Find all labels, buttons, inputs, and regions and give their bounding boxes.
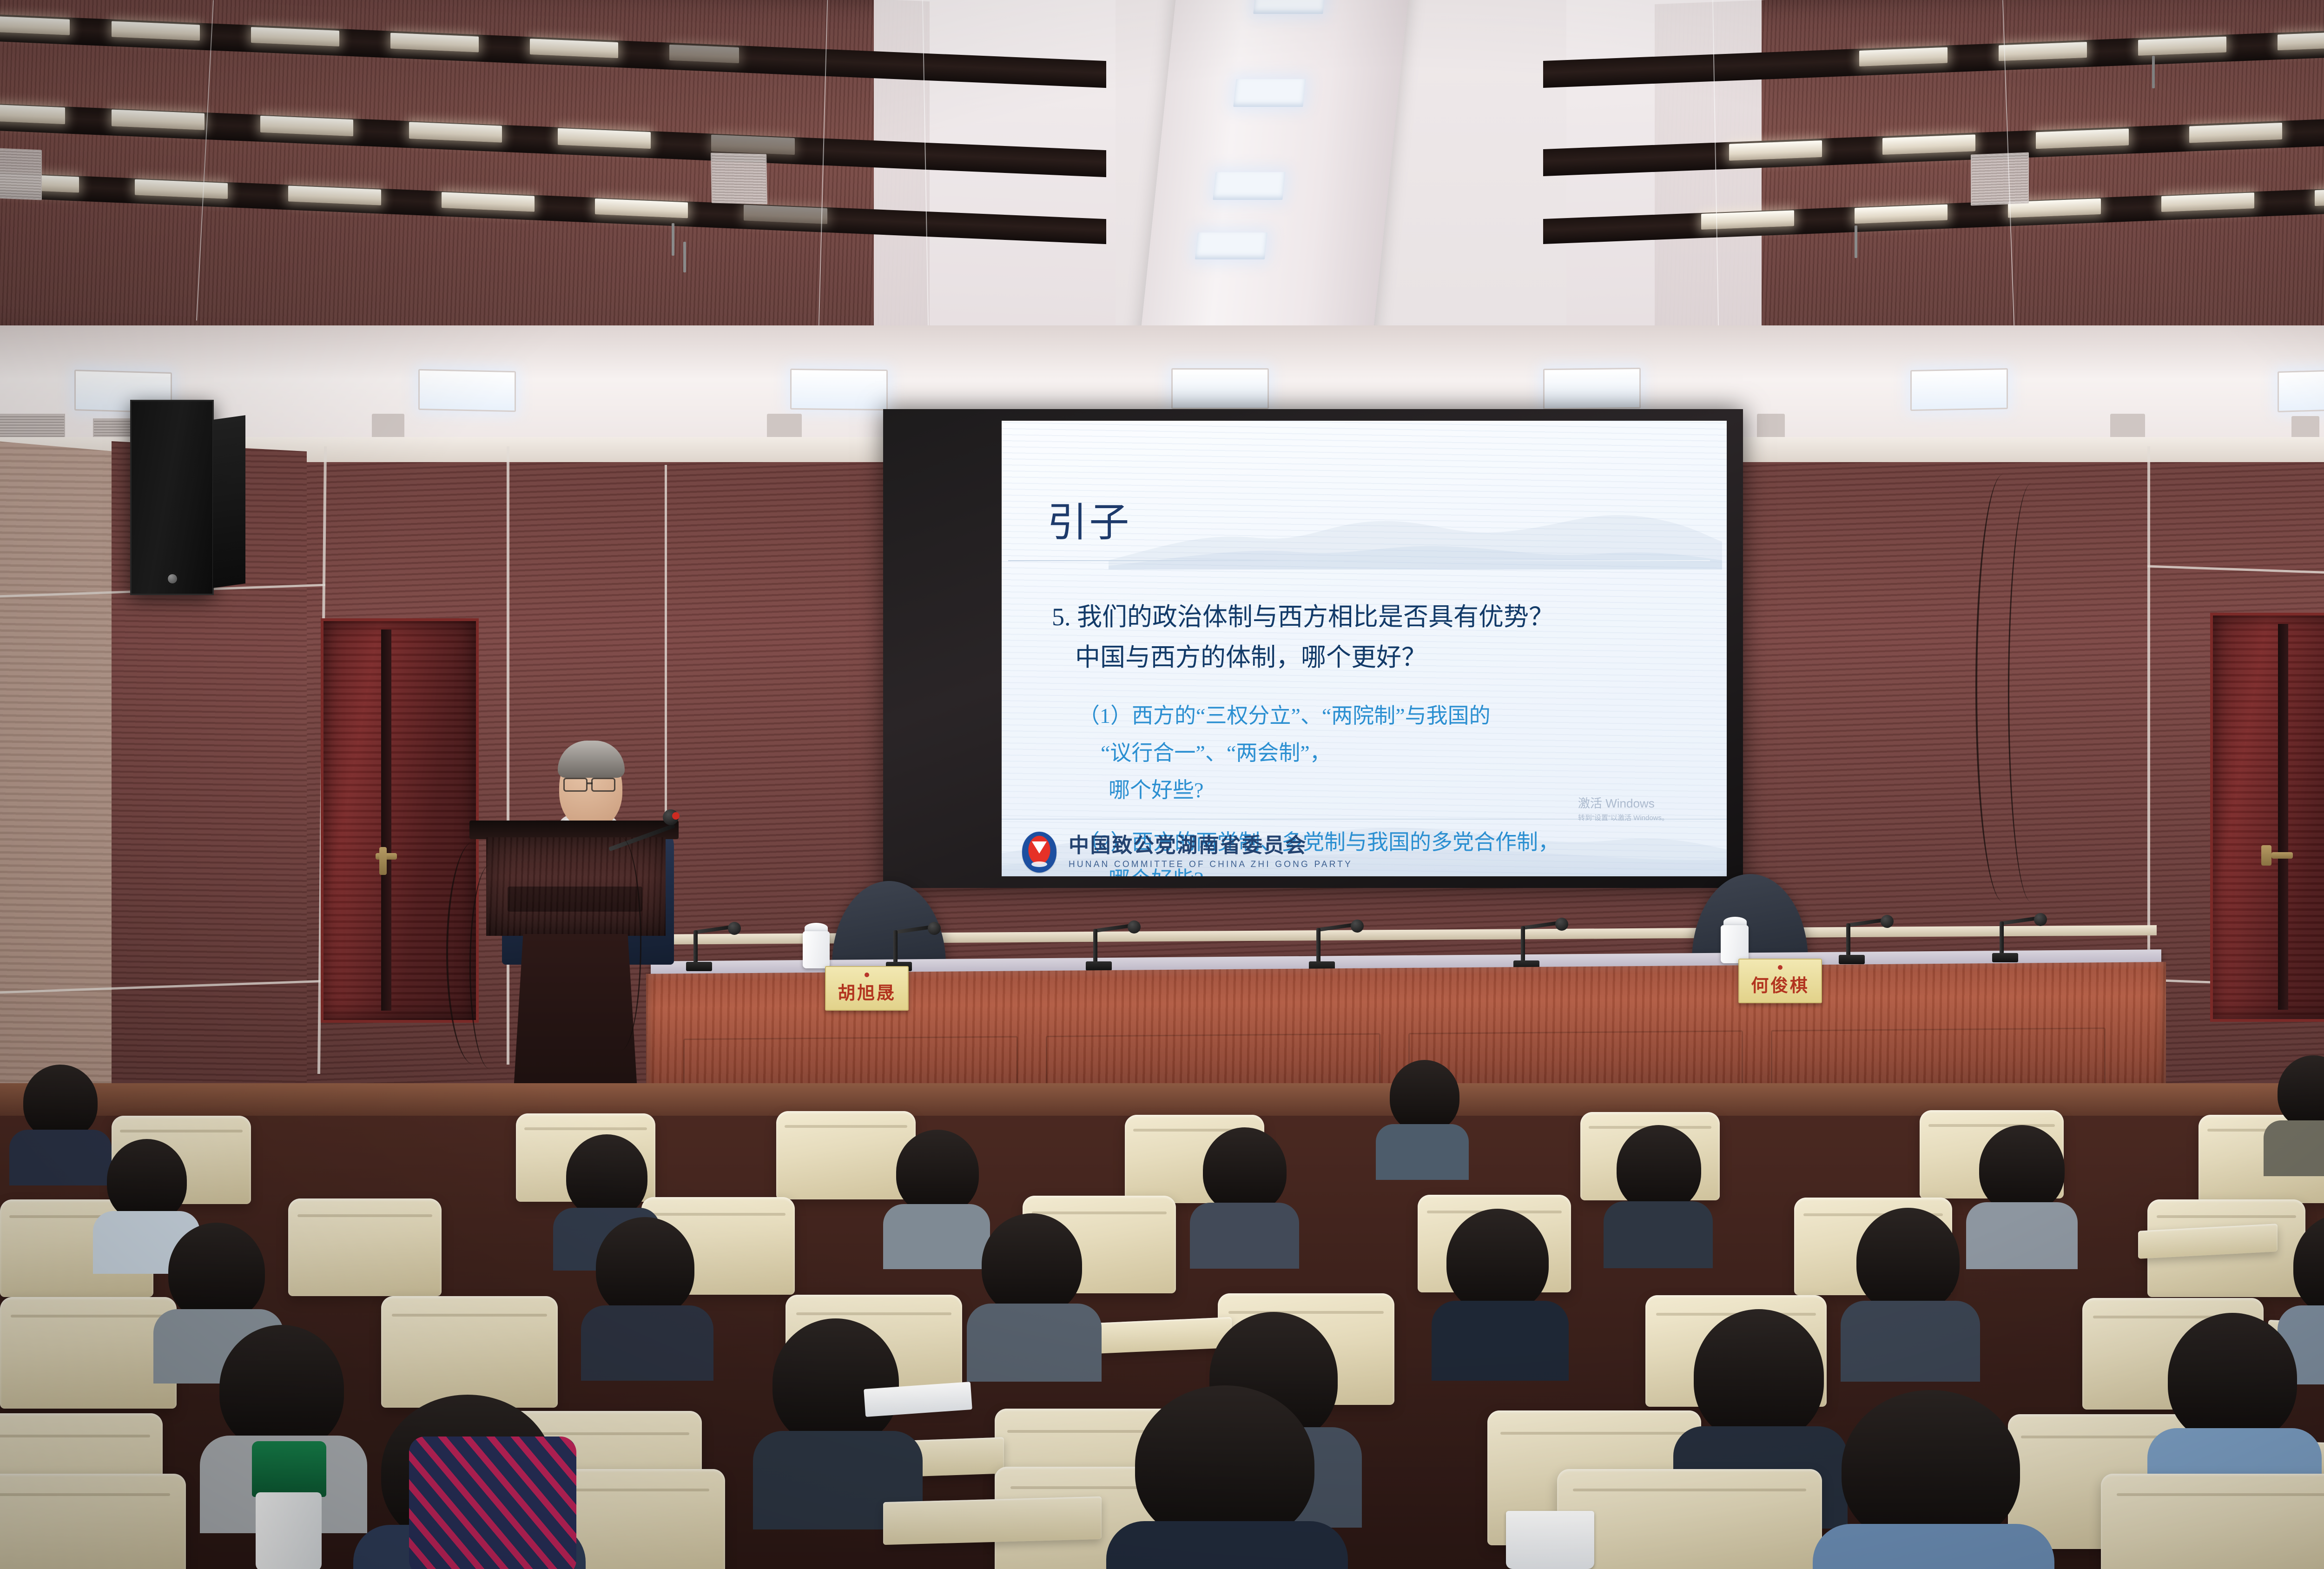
seat[interactable] xyxy=(0,1474,186,1569)
beam-downlight xyxy=(1233,79,1306,107)
podium-cable xyxy=(469,865,511,1069)
water-cup-left xyxy=(802,923,831,969)
slide-main-line-1: 5. 我们的政治体制与西方相比是否具有优势？ xyxy=(1052,595,1679,639)
presenter-glasses-icon xyxy=(563,778,588,792)
left-wall-panel xyxy=(0,440,130,1113)
water-bottle xyxy=(242,1441,335,1569)
soffit-light-panel xyxy=(418,369,516,412)
plaid-bag xyxy=(409,1437,576,1569)
title-divider xyxy=(1008,560,1710,561)
ceiling-air-vent-right xyxy=(1971,152,2029,206)
presenter-hair xyxy=(558,741,625,778)
writing-desk[interactable] xyxy=(883,1496,1102,1545)
soffit-light-panel xyxy=(1171,368,1269,409)
nameplate-left: 胡旭晟 xyxy=(825,966,909,1011)
ink-mountain-decoration-top xyxy=(1109,477,1722,569)
conference-hall-photo: 引子 5. 我们的政治体制与西方相比是否具有优势？ 中国与西方的体制，哪个更好？… xyxy=(0,0,2324,1569)
water-cup-right xyxy=(1720,917,1750,964)
soffit-light-panel xyxy=(1910,368,2008,411)
ceiling-hook xyxy=(2152,56,2155,88)
ceiling-air-vent-left xyxy=(711,153,767,205)
tea-cup xyxy=(1506,1511,1594,1569)
wall-cable xyxy=(2008,483,2054,902)
projection-screen: 引子 5. 我们的政治体制与西方相比是否具有优势？ 中国与西方的体制，哪个更好？… xyxy=(883,409,1743,888)
beam-downlight xyxy=(1195,232,1268,259)
beam-downlight xyxy=(1213,172,1285,200)
side-door-right[interactable] xyxy=(2210,613,2324,1022)
slide-main-line-2: 中国与西方的体制，哪个更好？ xyxy=(1075,636,1679,680)
ceiling-hook xyxy=(1855,225,1857,258)
seat[interactable] xyxy=(1557,1469,1822,1569)
soffit-light-panel xyxy=(1543,368,1641,410)
watermark-line-1: 激活 Windows xyxy=(1578,796,1727,811)
presenter-glasses-bridge xyxy=(587,782,593,784)
ceiling-air-vent-far-left xyxy=(0,147,42,200)
attendee-foreground xyxy=(1106,1385,1348,1569)
ceiling-center-beam xyxy=(1137,0,1410,367)
seat[interactable] xyxy=(2101,1474,2324,1569)
gooseneck-microphone xyxy=(683,923,744,979)
nameplate-left-text: 胡旭晟 xyxy=(838,979,896,1004)
soffit-light-panel xyxy=(2278,369,2324,412)
gooseneck-microphone xyxy=(1083,921,1143,977)
watermark-line-2: 转到“设置”以激活 Windows。 xyxy=(1578,813,1727,822)
door-lock-icon xyxy=(2261,845,2271,866)
attendee-foreground xyxy=(1813,1390,2054,1569)
podium-cable xyxy=(600,837,641,1051)
speaker-brand-logo-icon xyxy=(166,573,178,585)
presenter-glasses-icon xyxy=(591,778,615,792)
ceiling-hook xyxy=(672,223,674,256)
ceiling-hook xyxy=(683,242,686,272)
windows-activation-watermark: 激活 Windows 转到“设置”以激活 Windows。 xyxy=(1578,796,1727,822)
mic-indicator-light xyxy=(672,812,680,820)
gooseneck-microphone xyxy=(1836,916,1896,972)
zhi-gong-party-emblem-icon xyxy=(1022,832,1056,873)
door-gap xyxy=(381,629,391,1011)
gooseneck-microphone xyxy=(1511,919,1571,974)
nameplate-right: 何俊棋 xyxy=(1738,959,1822,1003)
nameplate-right-text: 何俊棋 xyxy=(1751,971,1809,997)
beam-downlight xyxy=(1253,0,1326,14)
door-lock-icon xyxy=(379,847,387,875)
gooseneck-microphone xyxy=(1989,914,2050,970)
slide-title: 引子 xyxy=(1047,490,1131,548)
org-name-cn: 中国致公党湖南省委员会 xyxy=(1069,834,1353,857)
door-handle-icon[interactable] xyxy=(2271,852,2293,859)
audience-row-foreground xyxy=(0,1399,2324,1569)
slide-footer: 中国致公党湖南省委员会 HUNAN COMMITTEE OF CHINA ZHI… xyxy=(1022,830,1440,874)
presentation-slide: 引子 5. 我们的政治体制与西方相比是否具有优势？ 中国与西方的体制，哪个更好？… xyxy=(1002,421,1727,876)
soffit-light-panel xyxy=(790,369,888,410)
wall-loudspeaker-left xyxy=(130,400,246,595)
door-gap xyxy=(2278,624,2288,1010)
ceiling xyxy=(0,0,2324,353)
org-name-en: HUNAN COMMITTEE OF CHINA ZHI GONG PARTY xyxy=(1069,860,1353,870)
